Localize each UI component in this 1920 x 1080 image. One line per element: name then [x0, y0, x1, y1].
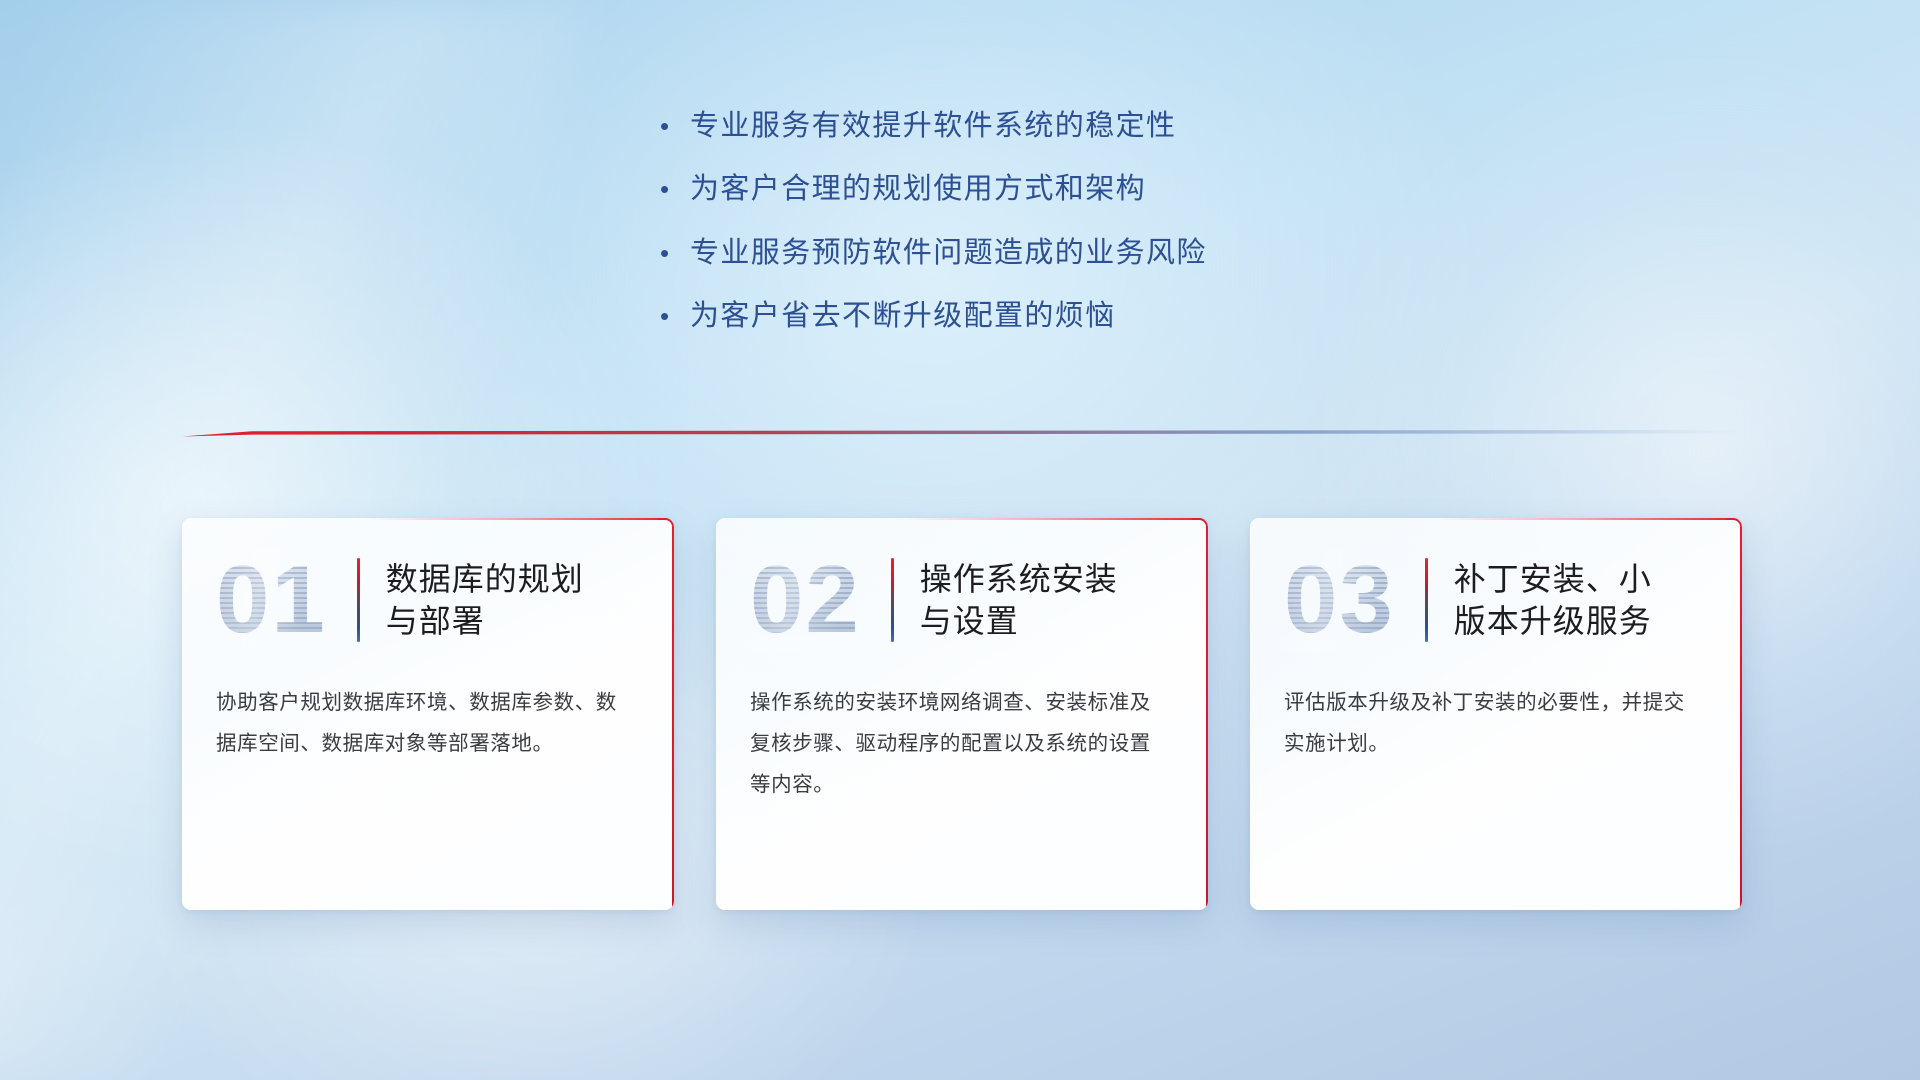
card-description: 评估版本升级及补丁安装的必要性，并提交实施计划。 [1250, 682, 1742, 764]
card-title: 操作系统安装 与设置 [920, 558, 1118, 642]
card-vertical-rule [891, 558, 894, 642]
card-vertical-rule [1425, 558, 1428, 642]
section-divider [182, 424, 1742, 440]
bullet-dot-icon: • [660, 303, 690, 329]
card-number-watermark: 01 [216, 552, 327, 648]
card-description: 操作系统的安装环境网络调查、安装标准及复核步骤、驱动程序的配置以及系统的设置等内… [716, 682, 1208, 805]
slide-canvas: • 专业服务有效提升软件系统的稳定性 • 为客户合理的规划使用方式和架构 • 专… [0, 0, 1920, 1080]
card-header: 03 补丁安装、小 版本升级服务 [1250, 518, 1742, 682]
card-title: 补丁安装、小 版本升级服务 [1454, 558, 1652, 642]
card-description: 协助客户规划数据库环境、数据库参数、数据库空间、数据库对象等部署落地。 [182, 682, 674, 764]
list-item: • 专业服务预防软件问题造成的业务风险 [660, 235, 1420, 271]
service-card[interactable]: 02 操作系统安装 与设置 操作系统的安装环境网络调查、安装标准及复核步骤、驱动… [716, 518, 1208, 910]
card-number-watermark: 03 [1284, 552, 1395, 648]
bullet-text: 为客户省去不断升级配置的烦恼 [690, 298, 1116, 334]
bullet-text: 为客户合理的规划使用方式和架构 [690, 171, 1146, 207]
benefits-bullet-list: • 专业服务有效提升软件系统的稳定性 • 为客户合理的规划使用方式和架构 • 专… [660, 108, 1420, 361]
card-number-watermark: 02 [750, 552, 861, 648]
bullet-text: 专业服务预防软件问题造成的业务风险 [690, 235, 1207, 271]
list-item: • 为客户合理的规划使用方式和架构 [660, 171, 1420, 207]
card-header: 02 操作系统安装 与设置 [716, 518, 1208, 682]
bullet-dot-icon: • [660, 113, 690, 139]
bullet-dot-icon: • [660, 240, 690, 266]
service-card[interactable]: 01 数据库的规划 与部署 协助客户规划数据库环境、数据库参数、数据库空间、数据… [182, 518, 674, 910]
service-card-group: 01 数据库的规划 与部署 协助客户规划数据库环境、数据库参数、数据库空间、数据… [182, 518, 1742, 918]
bullet-text: 专业服务有效提升软件系统的稳定性 [690, 108, 1176, 144]
card-vertical-rule [357, 558, 360, 642]
list-item: • 专业服务有效提升软件系统的稳定性 [660, 108, 1420, 144]
list-item: • 为客户省去不断升级配置的烦恼 [660, 298, 1420, 334]
bullet-dot-icon: • [660, 176, 690, 202]
card-header: 01 数据库的规划 与部署 [182, 518, 674, 682]
card-title: 数据库的规划 与部署 [386, 558, 584, 642]
service-card[interactable]: 03 补丁安装、小 版本升级服务 评估版本升级及补丁安装的必要性，并提交实施计划… [1250, 518, 1742, 910]
